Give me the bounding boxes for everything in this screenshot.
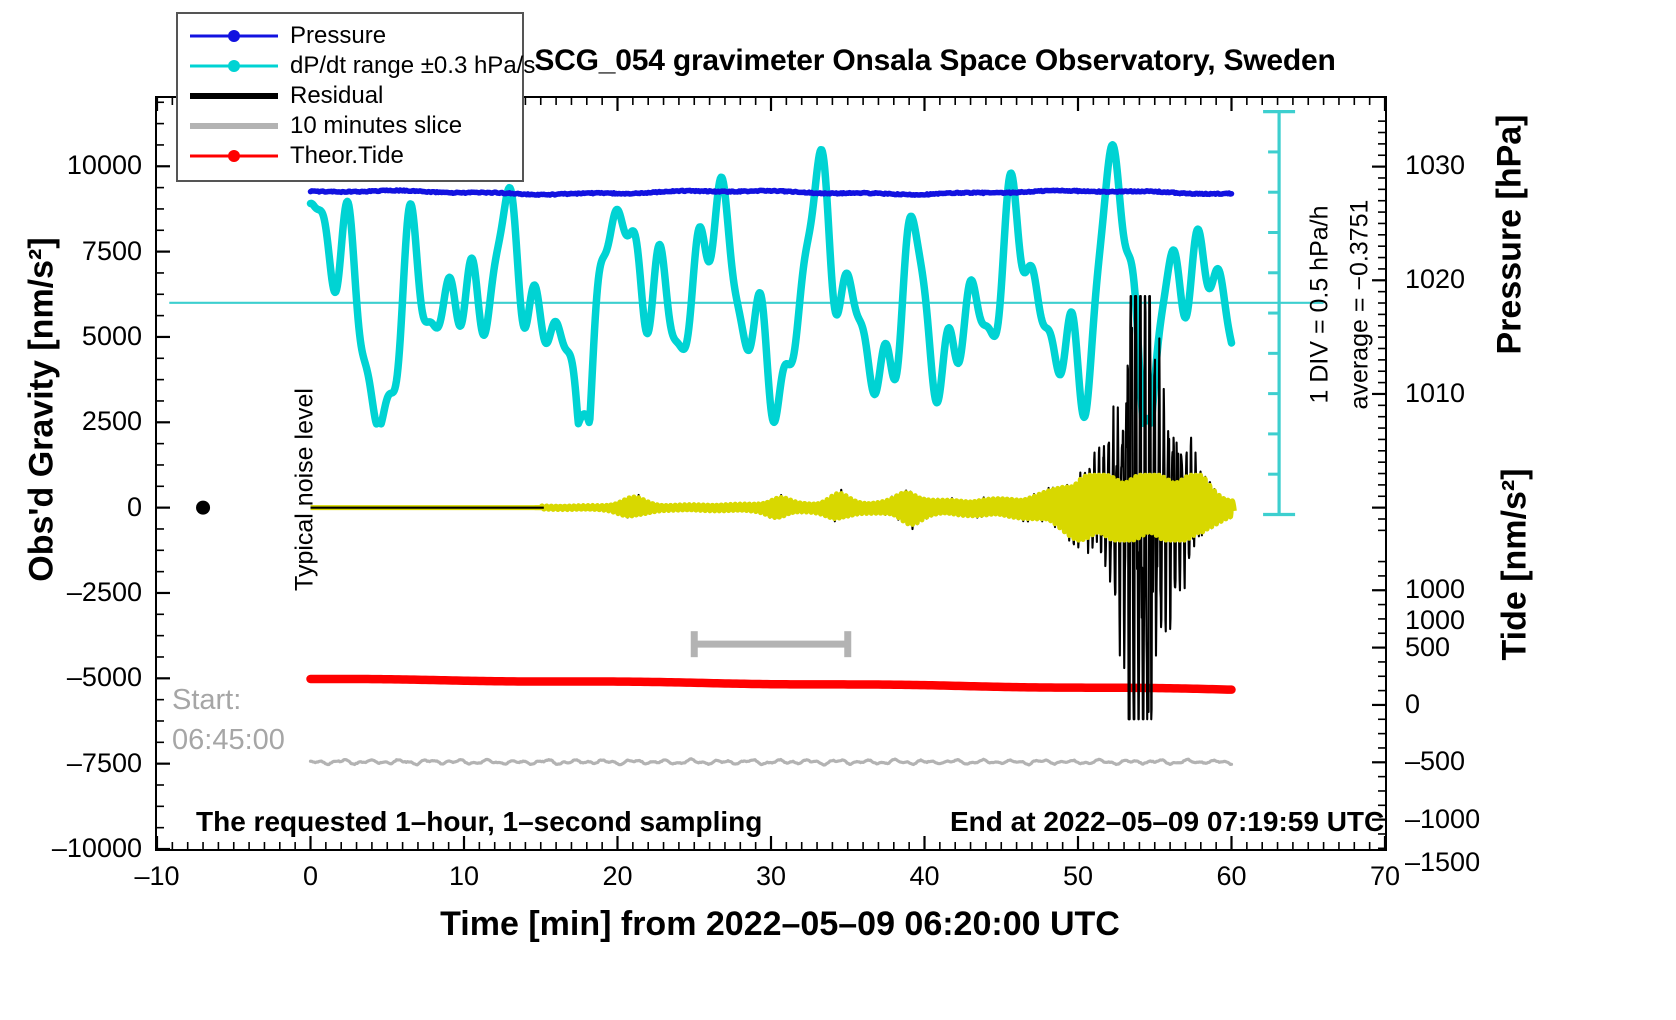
chart-canvas: SCG_054 gravimeter Onsala Space Observat…: [0, 0, 1676, 1020]
typical-noise-level-label: Typical noise level: [291, 325, 320, 655]
legend-label: dP/dt range ±0.3 hPa/s: [280, 52, 535, 80]
dpdt-trace: [311, 145, 1232, 424]
legend-label: Residual: [280, 82, 383, 110]
y-tick-left-4: 0: [0, 492, 142, 523]
x-tick-4: 30: [726, 861, 816, 892]
y-axis-title-tide: Tide [nm/s²]: [1496, 355, 1535, 775]
y-tick-left-0: 10000: [0, 150, 142, 181]
pressure-trace: [311, 190, 1232, 195]
y-tick-left-8: –10000: [0, 833, 142, 864]
legend-swatch-icon: [188, 81, 280, 111]
y-tick-left-5: –2500: [0, 577, 142, 608]
x-tick-6: 50: [1033, 861, 1123, 892]
plot-area: [155, 96, 1387, 851]
legend-swatch-icon: [188, 111, 280, 141]
x-tick-5: 40: [880, 861, 970, 892]
legend-label: Theor.Tide: [280, 142, 404, 170]
x-tick-1: 0: [266, 861, 356, 892]
average-label: average = −0.3751: [1346, 140, 1375, 470]
y-tick-tide-5: –1500: [1405, 847, 1525, 878]
residual-filtered-trace: [535, 475, 1235, 540]
y-axis-title-left: Obs'd Gravity [nm/s²]: [23, 110, 62, 710]
y-tick-left-2: 5000: [0, 321, 142, 352]
legend-label: 10 minutes slice: [280, 112, 462, 140]
legend: PressuredP/dt range ±0.3 hPa/sResidual10…: [176, 12, 524, 182]
typical-noise-level-dot: [196, 501, 210, 515]
y-tick-left-3: 2500: [0, 406, 142, 437]
theoretical-tide-trace: [311, 679, 1232, 690]
footer-sampling-note: The requested 1–hour, 1–second sampling: [196, 806, 762, 838]
y-tick-left-6: –5000: [0, 662, 142, 693]
start-label: Start:: [172, 684, 241, 717]
chart-title: SCG_054 gravimeter Onsala Space Observat…: [430, 44, 1440, 78]
y-tick-left-7: –7500: [0, 748, 142, 779]
legend-swatch-icon: [188, 141, 280, 171]
start-time: 06:45:00: [172, 724, 285, 757]
data-traces: [157, 98, 1385, 849]
x-tick-2: 10: [419, 861, 509, 892]
x-axis-title: Time [min] from 2022–05–09 06:20:00 UTC: [0, 905, 1560, 944]
y-tick-left-1: 7500: [0, 236, 142, 267]
legend-item-1[interactable]: dP/dt range ±0.3 hPa/s: [188, 51, 512, 81]
legend-item-2[interactable]: Residual: [188, 81, 512, 111]
y-tick-tide-4: –1000: [1405, 804, 1525, 835]
legend-label: Pressure: [280, 22, 386, 50]
x-tick-0: –10: [112, 861, 202, 892]
legend-swatch-icon: [188, 21, 280, 51]
footer-end-time: End at 2022–05–09 07:19:59 UTC: [950, 806, 1384, 838]
legend-swatch-icon: [188, 51, 280, 81]
legend-item-0[interactable]: Pressure: [188, 21, 512, 51]
x-tick-3: 20: [573, 861, 663, 892]
legend-item-3[interactable]: 10 minutes slice: [188, 111, 512, 141]
legend-item-4[interactable]: Theor.Tide: [188, 141, 512, 171]
x-tick-7: 60: [1187, 861, 1277, 892]
scale-division-label: 1 DIV = 0.5 hPa/h: [1306, 140, 1335, 470]
ten-minutes-slice-trace: [311, 759, 1232, 765]
